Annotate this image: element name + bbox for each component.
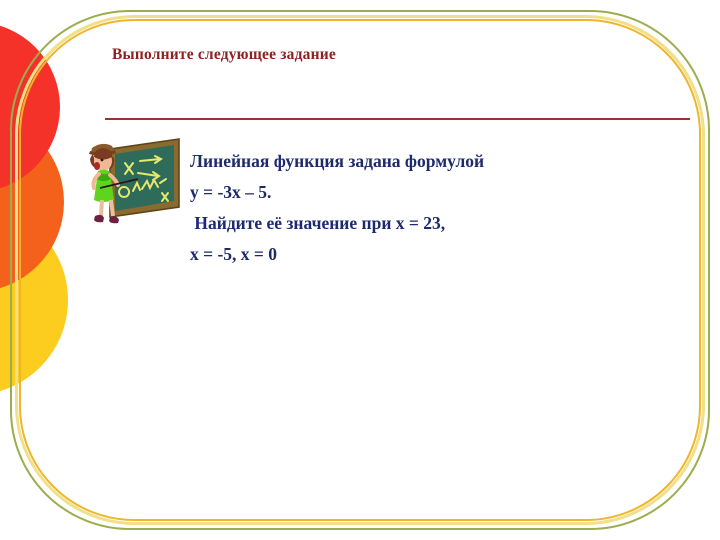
chalkboard-icon	[110, 139, 179, 217]
border-frame-gold	[19, 19, 701, 521]
teacher-blackboard-illustration	[80, 133, 184, 233]
border-frame-green	[10, 10, 710, 530]
problem-line-1: Линейная функция задана формулой	[190, 146, 620, 177]
problem-line-4: x = -5, x = 0	[190, 239, 620, 270]
problem-line-3: Найдите её значение при x = 23,	[190, 208, 620, 239]
border-frame-pale-yellow	[15, 15, 705, 525]
problem-line-2: y = -3x – 5.	[190, 177, 620, 208]
slide: Выполните следующее задание	[0, 0, 720, 540]
problem-text: Линейная функция задана формулой y = -3x…	[190, 146, 620, 270]
slide-title: Выполните следующее задание	[112, 46, 336, 64]
horizontal-divider	[105, 118, 690, 120]
